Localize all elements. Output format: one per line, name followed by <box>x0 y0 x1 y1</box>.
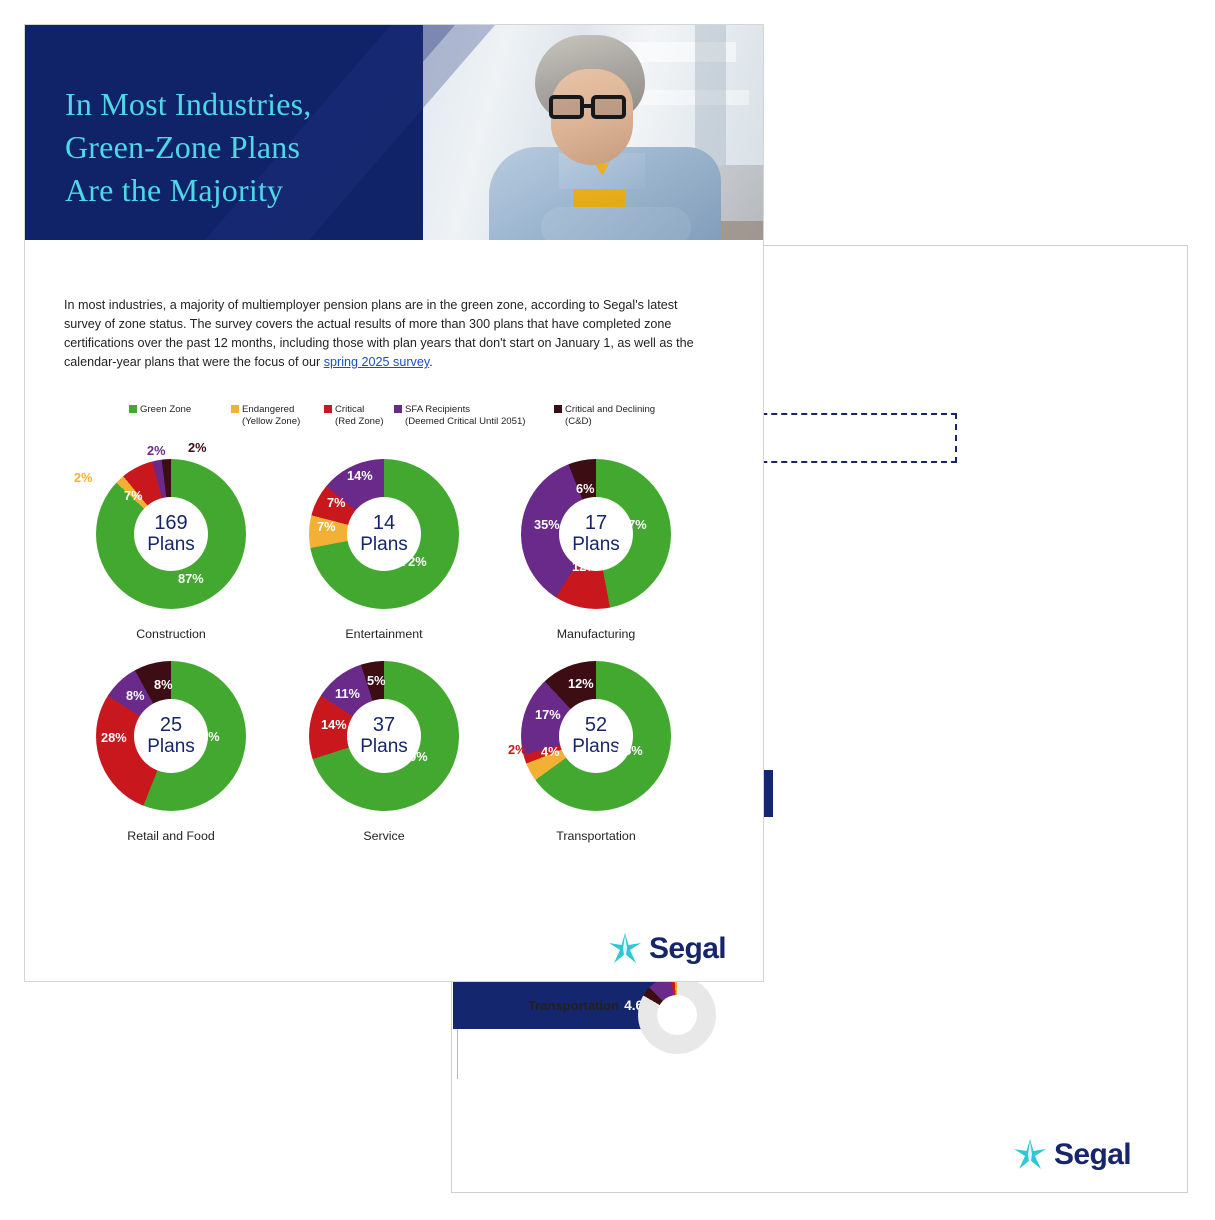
donut-slice-label-transportation-red: 2% <box>508 742 527 757</box>
legend-sublabel-endangered: (Yellow Zone) <box>242 416 300 428</box>
legend-swatch-sfa-recipients <box>394 405 402 413</box>
legend-item-green-zone: Green Zone <box>129 404 191 416</box>
donut-slice-label-service-dark: 5% <box>367 673 386 688</box>
donut-chart-transportation: 52 Plans 65% 4% 2% 17% 12% Transportatio… <box>521 661 671 811</box>
donut-slice-label-retail-red: 28% <box>101 730 127 745</box>
bar-row-6-label: Transportation <box>528 998 619 1013</box>
legend-sublabel-sfa-recipients: (Deemed Critical Until 2051) <box>405 416 526 428</box>
donut-center-label-entertainment: Plans <box>360 534 408 555</box>
legend-item-critical-and-declining: Critical and Declining (C&D) <box>554 404 655 428</box>
donut-center-value-retail-and-food: 25 <box>160 715 182 736</box>
legend-item-critical: Critical (Red Zone) <box>324 404 384 428</box>
donut-slice-label-manufacturing-green: 47% <box>621 517 647 532</box>
donut-caption-transportation: Transportation <box>496 829 696 843</box>
donut-slice-label-transportation-yellow: 4% <box>541 744 560 759</box>
donut-caption-entertainment: Entertainment <box>284 627 484 641</box>
donut-slice-label-retail-green: 56% <box>194 729 220 744</box>
donut-caption-retail-and-food: Retail and Food <box>71 829 271 843</box>
donut-slice-label-entertainment-purple: 14% <box>347 468 373 483</box>
donut-caption-construction: Construction <box>71 627 271 641</box>
donut-slice-label-service-green: 70% <box>402 749 428 764</box>
legend-swatch-critical <box>324 405 332 413</box>
donut-slice-label-construction-yellow: 2% <box>74 470 93 485</box>
page-title-line-3: Are the Majority <box>65 169 485 212</box>
page-title: In Most Industries, Green-Zone Plans Are… <box>65 83 485 212</box>
legend-item-endangered: Endangered (Yellow Zone) <box>231 404 300 428</box>
legend-swatch-critical-and-declining <box>554 405 562 413</box>
page-title-line-1: In Most Industries, <box>65 83 485 126</box>
donut-chart-construction: 169 Plans 87% 2% 7% 2% 2% Construction <box>96 459 246 609</box>
segal-wordmark: Segal <box>649 932 726 966</box>
page-title-line-2: Green-Zone Plans <box>65 126 485 169</box>
donut-slice-label-retail-dark: 8% <box>154 677 173 692</box>
intro-paragraph: In most industries, a majority of multie… <box>64 296 700 373</box>
donut-center-value-construction: 169 <box>154 513 187 534</box>
segal-star-icon <box>1012 1137 1048 1173</box>
donut-center-transportation: 52 Plans <box>559 699 633 773</box>
donut-slice-label-retail-purple: 8% <box>126 688 145 703</box>
donut-slice-label-entertainment-yellow: 7% <box>317 519 336 534</box>
legend-item-sfa-recipients: SFA Recipients (Deemed Critical Until 20… <box>394 404 526 428</box>
legend-sublabel-critical: (Red Zone) <box>335 416 384 428</box>
segal-logo-background: Segal <box>1012 1137 1131 1173</box>
donut-caption-manufacturing: Manufacturing <box>496 627 696 641</box>
chart-legend: Green Zone Endangered (Yellow Zone) Crit… <box>129 404 689 432</box>
donut-slice-label-service-purple: 11% <box>335 686 360 701</box>
donut-center-value-transportation: 52 <box>585 715 607 736</box>
donut-center-label-manufacturing: Plans <box>572 534 620 555</box>
segal-wordmark: Segal <box>1054 1138 1131 1172</box>
spring-2025-survey-link[interactable]: spring 2025 survey <box>324 355 429 369</box>
legend-label-endangered: Endangered <box>242 404 294 415</box>
donut-slice-label-manufacturing-red: 12% <box>572 559 598 574</box>
donut-slice-label-manufacturing-purple: 35% <box>534 517 560 532</box>
donut-slice-label-construction-green: 87% <box>178 571 204 586</box>
donut-slice-label-construction-red: 7% <box>124 488 143 503</box>
donut-chart-retail-and-food: 25 Plans 56% 28% 8% 8% Retail and Food <box>96 661 246 811</box>
donut-slice-label-entertainment-red: 7% <box>327 495 346 510</box>
legend-sublabel-critical-and-declining: (C&D) <box>565 416 655 428</box>
donut-slice-label-service-red: 14% <box>321 717 347 732</box>
front-page: In Most Industries, Green-Zone Plans Are… <box>24 24 764 982</box>
donut-chart-service: 37 Plans 70% 14% 11% 5% Service <box>309 661 459 811</box>
donut-center-construction: 169 Plans <box>134 497 208 571</box>
legend-label-critical-and-declining: Critical and Declining <box>565 404 655 415</box>
donut-caption-service: Service <box>284 829 484 843</box>
donut-center-label-construction: Plans <box>147 534 195 555</box>
donut-chart-entertainment: 14 Plans 72% 7% 7% 14% Entertainment <box>309 459 459 609</box>
donut-center-value-entertainment: 14 <box>373 513 395 534</box>
legend-label-sfa-recipients: SFA Recipients <box>405 404 470 415</box>
donut-center-label-transportation: Plans <box>572 736 620 757</box>
donut-slice-label-manufacturing-dark: 6% <box>576 481 595 496</box>
donut-center-label-service: Plans <box>360 736 408 757</box>
legend-label-critical: Critical <box>335 404 364 415</box>
photo-person-arm <box>541 207 691 240</box>
segal-star-icon <box>607 931 643 967</box>
photo-door <box>695 25 726 167</box>
donut-center-value-manufacturing: 17 <box>585 513 607 534</box>
donut-slice-label-construction-dark: 2% <box>188 440 207 455</box>
donut-slice-label-entertainment-green: 72% <box>401 554 427 569</box>
legend-swatch-green-zone <box>129 405 137 413</box>
donut-slice-label-transportation-green: 65% <box>617 743 643 758</box>
donut-chart-manufacturing: 17 Plans 47% 12% 35% 6% Manufacturing <box>521 459 671 609</box>
donut-slice-label-transportation-dark: 12% <box>568 676 594 691</box>
segal-logo-front: Segal <box>607 931 726 967</box>
hero-banner: In Most Industries, Green-Zone Plans Are… <box>25 25 763 240</box>
legend-swatch-endangered <box>231 405 239 413</box>
intro-text-after-link: . <box>429 355 433 369</box>
legend-label-green-zone: Green Zone <box>140 404 191 415</box>
donut-center-value-service: 37 <box>373 715 395 736</box>
donut-slice-label-transportation-purple: 17% <box>535 707 561 722</box>
donut-center-label-retail-and-food: Plans <box>147 736 195 757</box>
mini-donut-transportation <box>638 976 716 1054</box>
photo-eyeglasses <box>549 95 633 119</box>
donut-slice-label-construction-purple: 2% <box>147 443 166 458</box>
